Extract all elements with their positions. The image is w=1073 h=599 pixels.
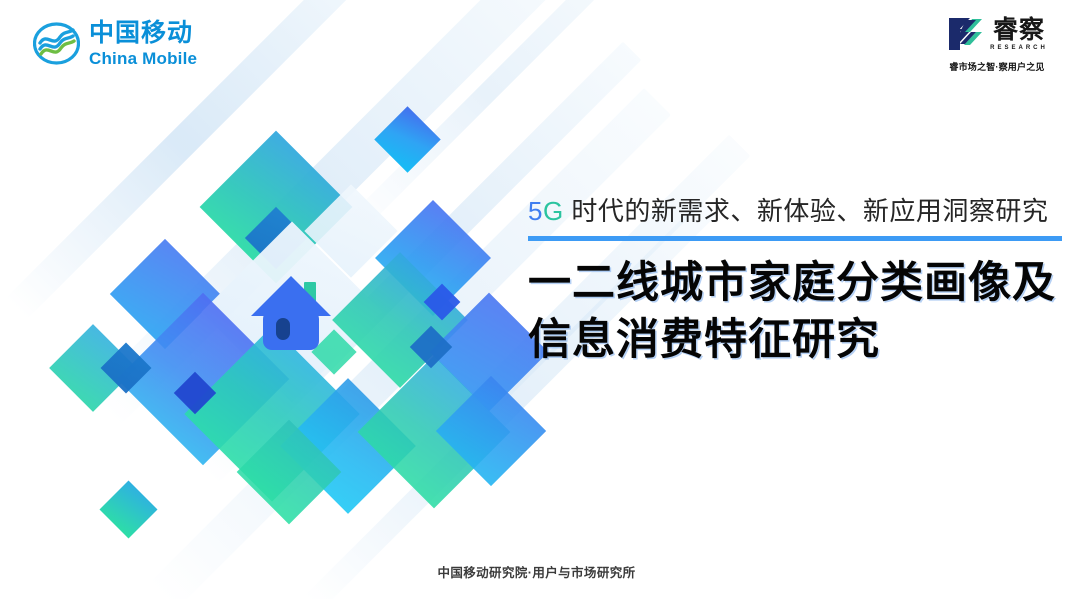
- footer-text: 中国移动研究院·用户与市场研究所: [0, 562, 1073, 581]
- subtitle: 5G 时代的新需求、新体验、新应用洞察研究: [528, 196, 1062, 227]
- ruicha-name-en: RESEARCH: [990, 45, 1048, 51]
- diamond-shape: [374, 106, 440, 172]
- china-mobile-wave-icon: [33, 20, 80, 67]
- page-title-line-2: 信息消费特征研究: [528, 312, 1062, 369]
- page-title-line-1: 一二线城市家庭分类画像及: [528, 255, 1062, 312]
- subtitle-rest: 时代的新需求、新体验、新应用洞察研究: [564, 196, 1049, 226]
- ruicha-name-cn: 睿察: [993, 18, 1045, 43]
- house-icon: [249, 272, 333, 354]
- page-title: 一二线城市家庭分类画像及 信息消费特征研究: [528, 255, 1062, 369]
- subtitle-5: 5: [528, 196, 543, 226]
- ruicha-tagline: 睿市场之智·察用户之见: [939, 60, 1055, 73]
- ruicha-r-icon: [946, 14, 986, 54]
- china-mobile-name-en: China Mobile: [89, 50, 197, 67]
- china-mobile-name-cn: 中国移动: [89, 21, 197, 46]
- subtitle-g: G: [543, 196, 564, 226]
- title-slide: 中国移动 China Mobile 睿察 RESEARCH 睿市场之智·察用户之…: [0, 0, 1073, 599]
- title-rule: [528, 236, 1062, 241]
- china-mobile-logo: 中国移动 China Mobile: [33, 20, 197, 67]
- diamond-shape: [100, 481, 158, 539]
- ruicha-research-logo: 睿察 RESEARCH 睿市场之智·察用户之见: [939, 14, 1055, 73]
- title-block: 5G 时代的新需求、新体验、新应用洞察研究 一二线城市家庭分类画像及 信息消费特…: [528, 196, 1062, 370]
